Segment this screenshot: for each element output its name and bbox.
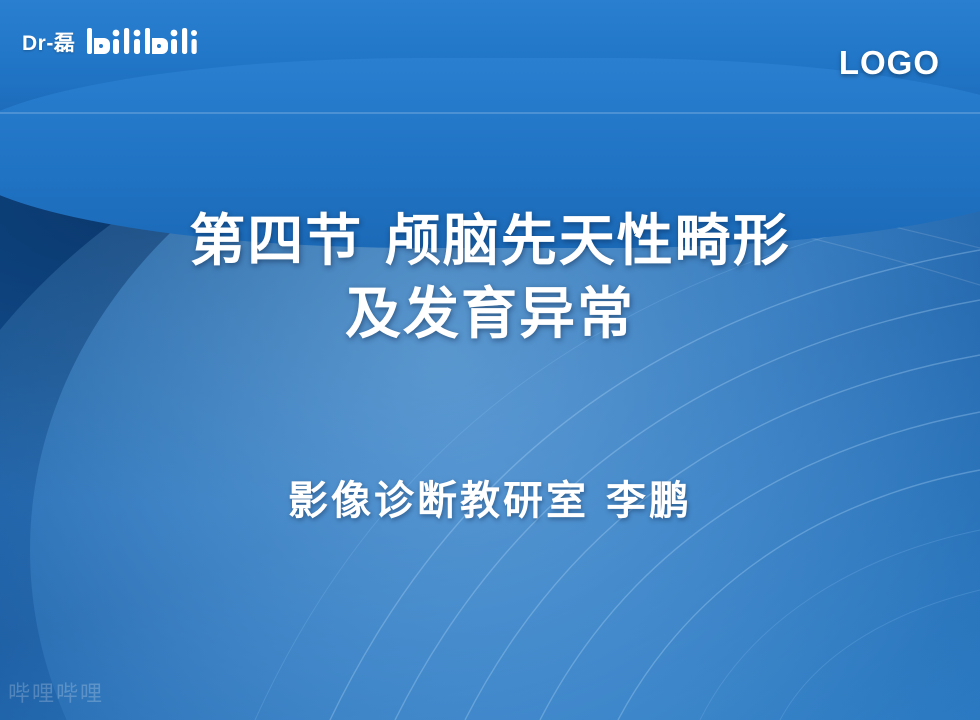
logo-placeholder: LOGO [839,44,940,82]
brand-name-label: Dr-磊 [22,27,75,57]
presentation-slide: Dr-磊 [0,0,980,720]
slide-subtitle: 影像诊断教研室 李鹏 [0,468,980,526]
header-divider [0,112,980,114]
slide-title-line-1: 第四节 颅脑先天性畸形 [0,205,980,278]
slide-title-line-2: 及发育异常 [0,278,980,351]
watermark-label: 哔哩哔哩 [8,676,104,708]
brand-mark: Dr-磊 [22,24,197,60]
bilibili-logo-icon [85,24,197,60]
slide-title: 第四节 颅脑先天性畸形 及发育异常 [0,205,980,351]
